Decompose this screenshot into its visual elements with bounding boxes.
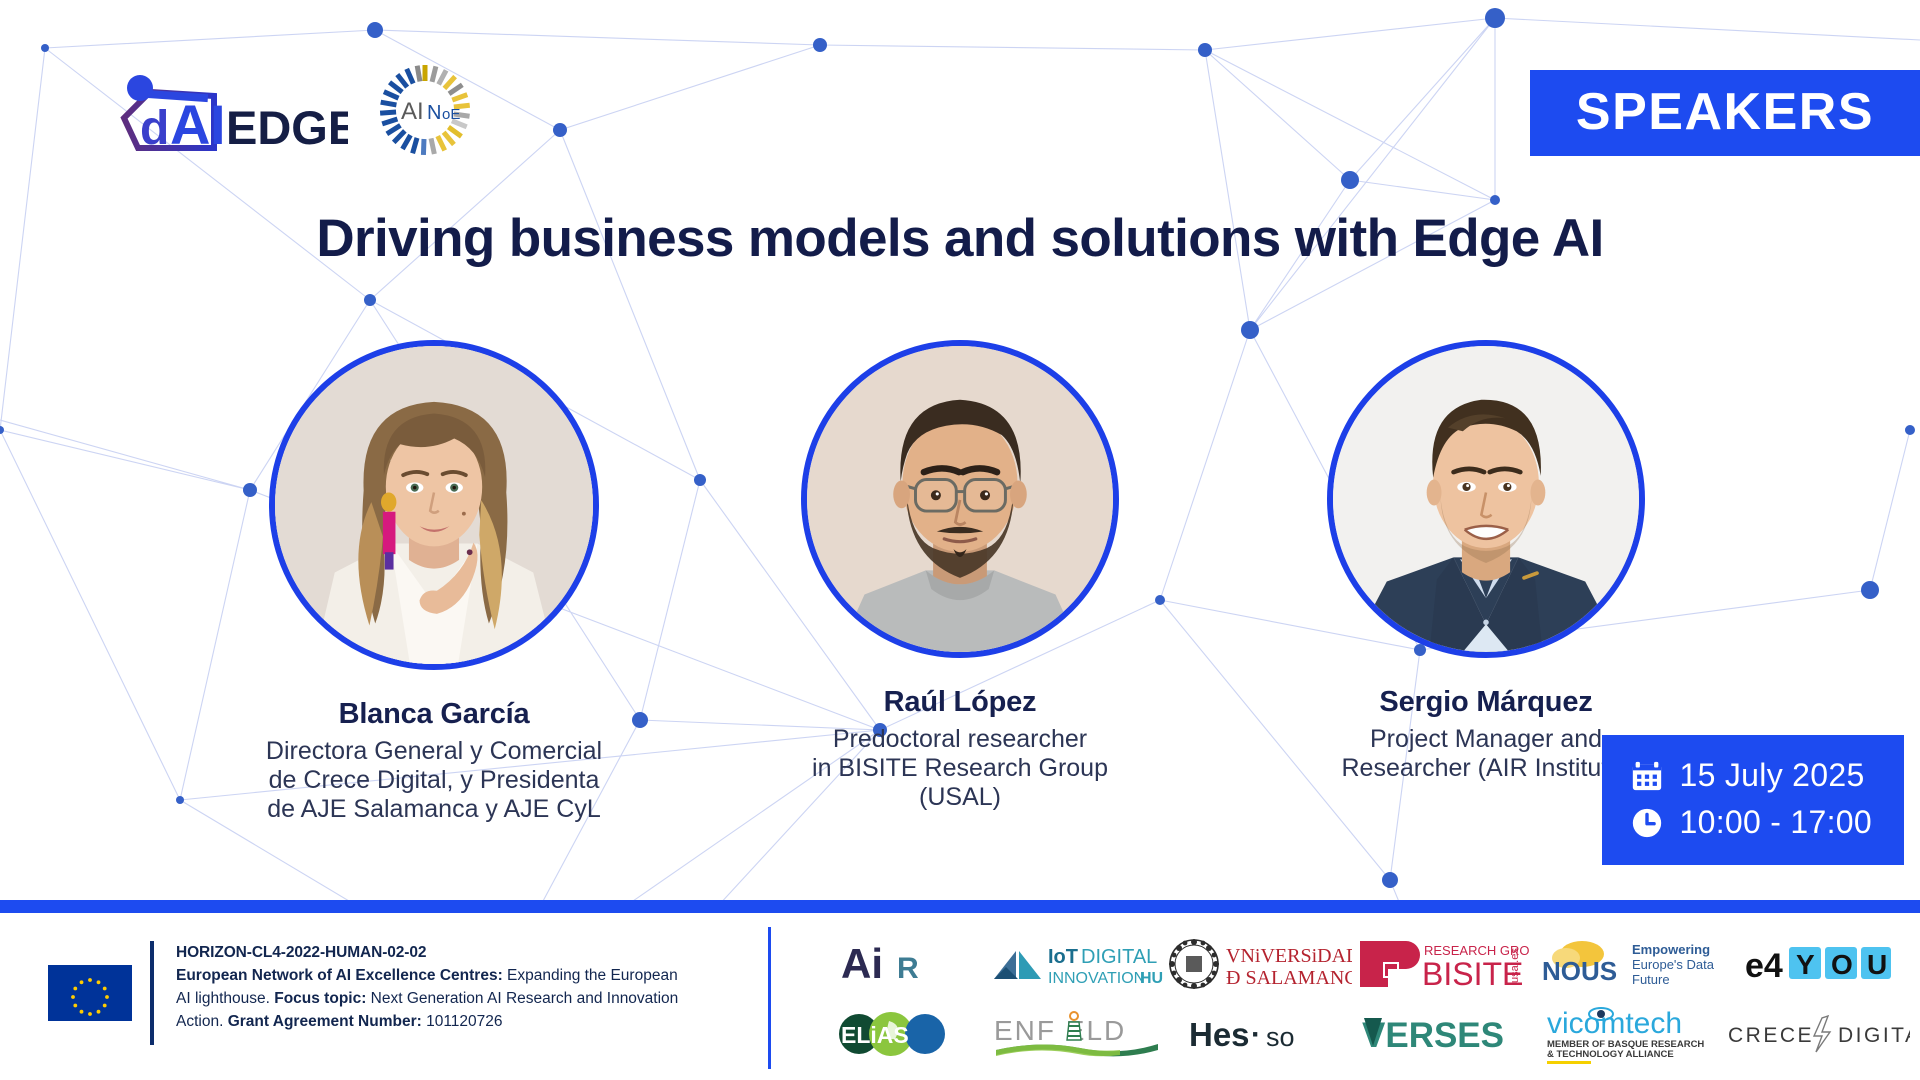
- partner-logo-iot-digital-innovation-hub: IoT DIGITAL INNOVATION HUB: [984, 929, 1168, 999]
- speaker-role: Directora General y Comercial de Crece D…: [266, 737, 602, 824]
- svg-text:N: N: [427, 102, 441, 124]
- speaker-role-line: Predoctoral researcher: [812, 725, 1108, 754]
- svg-text:Y: Y: [1796, 949, 1815, 980]
- speaker-role: Project Manager and Researcher (AIR Inst…: [1342, 725, 1631, 783]
- avatar-sergio-marquez: [1327, 340, 1645, 658]
- svg-text:ENF ELD: ENF ELD: [994, 1015, 1126, 1046]
- speaker-role-line: de AJE Salamanca y AJE CyL: [266, 795, 602, 824]
- eu-text-rule: [150, 941, 154, 1045]
- eu-flag: [48, 965, 132, 1021]
- svg-text:e4: e4: [1745, 947, 1783, 985]
- speaker-card-raul-lopez: Raúl López Predoctoral researcher in BIS…: [750, 340, 1170, 812]
- svg-text:usal.es: usal.es: [1509, 948, 1521, 983]
- svg-text:Hes: Hes: [1189, 1016, 1250, 1053]
- svg-text:Ai: Ai: [841, 940, 883, 987]
- partner-logo-nous: NOUS Empowering Europe's Data Future: [1536, 929, 1726, 999]
- partner-logo-universidad-de-salamanca: VNiVERSiDAD Ð SALAMANCA: [1168, 929, 1352, 999]
- footer-vertical-rule: [768, 927, 771, 1069]
- svg-text:vicomtech: vicomtech: [1547, 1007, 1682, 1040]
- partner-logo-grid: Ai R IoT DIGITAL INNOVATION HUB: [800, 929, 1910, 1069]
- svg-text:U: U: [1867, 949, 1887, 980]
- speaker-name: Raúl López: [884, 686, 1037, 719]
- avatar-blanca-garcia: [269, 340, 599, 670]
- svg-text:VNiVERSiDAD: VNiVERSiDAD: [1226, 945, 1352, 967]
- partner-logo-e4you: e4 Y O U: [1726, 929, 1910, 999]
- partner-logo-crece-digital: CRECE DIGITAL: [1726, 999, 1910, 1069]
- svg-text:Empowering: Empowering: [1632, 942, 1710, 957]
- partner-logo-verses: VERSES: [1352, 999, 1536, 1069]
- eu-funding-block: HORIZON-CL4-2022-HUMAN-02-02 European Ne…: [48, 941, 678, 1045]
- speaker-role-line: Project Manager and: [1342, 725, 1631, 754]
- svg-text:DIGITAL: DIGITAL: [1081, 946, 1157, 968]
- svg-text:HUB: HUB: [1140, 970, 1164, 987]
- svg-text:NOUS: NOUS: [1542, 956, 1617, 986]
- calendar-icon: [1630, 759, 1664, 793]
- speaker-name: Sergio Márquez: [1379, 686, 1592, 719]
- svg-text:d: d: [140, 102, 169, 152]
- svg-text:IoT: IoT: [1048, 946, 1078, 968]
- event-datetime-box: 15 July 2025 10:00 - 17:00: [1602, 735, 1905, 865]
- page-title: Driving business models and solutions wi…: [0, 208, 1920, 269]
- speaker-name: Blanca García: [339, 698, 530, 731]
- funding-line-2: European Network of AI Excellence Centre…: [176, 964, 678, 987]
- funding-call-id: HORIZON-CL4-2022-HUMAN-02-02: [176, 941, 678, 964]
- svg-text:ELiAS: ELiAS: [841, 1022, 909, 1048]
- footer-divider: [0, 900, 1920, 913]
- speaker-card-sergio-marquez: Sergio Márquez Project Manager and Resea…: [1276, 340, 1696, 783]
- partner-logo-hes-so: Hes · so: [1168, 999, 1352, 1069]
- speakers-banner: SPEAKERS: [1530, 70, 1920, 156]
- event-time-row: 10:00 - 17:00: [1630, 804, 1873, 841]
- svg-text:DIGITAL: DIGITAL: [1838, 1024, 1910, 1047]
- funding-line-4: Action. Grant Agreement Number: 10112072…: [176, 1010, 678, 1033]
- speaker-card-blanca-garcia: Blanca García Directora General y Comerc…: [224, 340, 644, 824]
- partner-logo-bisite: RESEARCH GROUP BISITE usal.es: [1352, 929, 1536, 999]
- partner-logo-elias: ELiAS: [800, 999, 984, 1069]
- svg-text:AI: AI: [401, 98, 424, 125]
- avatar-raul-lopez: [801, 340, 1119, 658]
- ai-noe-logo: AI N oE: [366, 60, 484, 165]
- footer: HORIZON-CL4-2022-HUMAN-02-02 European Ne…: [0, 913, 1920, 1080]
- speaker-role-line: Researcher (AIR Institute): [1342, 754, 1631, 783]
- partner-logo-enfield: ENF ELD: [984, 999, 1168, 1069]
- svg-text:oE: oE: [442, 106, 460, 123]
- daiedge-logo: d A I EDGE: [118, 74, 348, 152]
- svg-text:INNOVATION: INNOVATION: [1048, 970, 1145, 987]
- partner-logo-vicomtech: vicomtech MEMBER OF BASQUE RESEARCH & TE…: [1536, 999, 1726, 1069]
- event-time: 10:00 - 17:00: [1680, 804, 1873, 841]
- funding-line-3: AI lighthouse. Focus topic: Next Generat…: [176, 987, 678, 1010]
- svg-text:R: R: [897, 952, 919, 985]
- header-logos: d A I EDGE: [118, 60, 484, 165]
- speaker-role-line: in BISITE Research Group: [812, 754, 1108, 783]
- speaker-role: Predoctoral researcher in BISITE Researc…: [812, 725, 1108, 812]
- svg-text:Future: Future: [1632, 972, 1670, 987]
- partner-logo-air: Ai R: [800, 929, 984, 999]
- svg-text:VERSES: VERSES: [1362, 1016, 1504, 1055]
- svg-text:A: A: [170, 93, 210, 152]
- clock-icon: [1630, 806, 1664, 840]
- svg-text:so: so: [1266, 1022, 1295, 1052]
- eu-funding-text: HORIZON-CL4-2022-HUMAN-02-02 European Ne…: [168, 941, 678, 1033]
- svg-text:Ð SALAMANCA: Ð SALAMANCA: [1226, 967, 1352, 989]
- svg-text:Europe's Data: Europe's Data: [1632, 957, 1715, 972]
- svg-text:O: O: [1831, 949, 1853, 980]
- svg-text:I: I: [210, 93, 226, 152]
- svg-text:EDGE: EDGE: [226, 101, 348, 152]
- speaker-role-line: (USAL): [812, 783, 1108, 812]
- svg-text:·: ·: [1251, 1018, 1261, 1051]
- event-date-row: 15 July 2025: [1630, 757, 1873, 794]
- svg-text:& TECHNOLOGY ALLIANCE: & TECHNOLOGY ALLIANCE: [1547, 1049, 1674, 1060]
- event-date: 15 July 2025: [1680, 757, 1865, 794]
- svg-text:CRECE: CRECE: [1728, 1024, 1814, 1047]
- speaker-role-line: Directora General y Comercial: [266, 737, 602, 766]
- speaker-role-line: de Crece Digital, y Presidenta: [266, 766, 602, 795]
